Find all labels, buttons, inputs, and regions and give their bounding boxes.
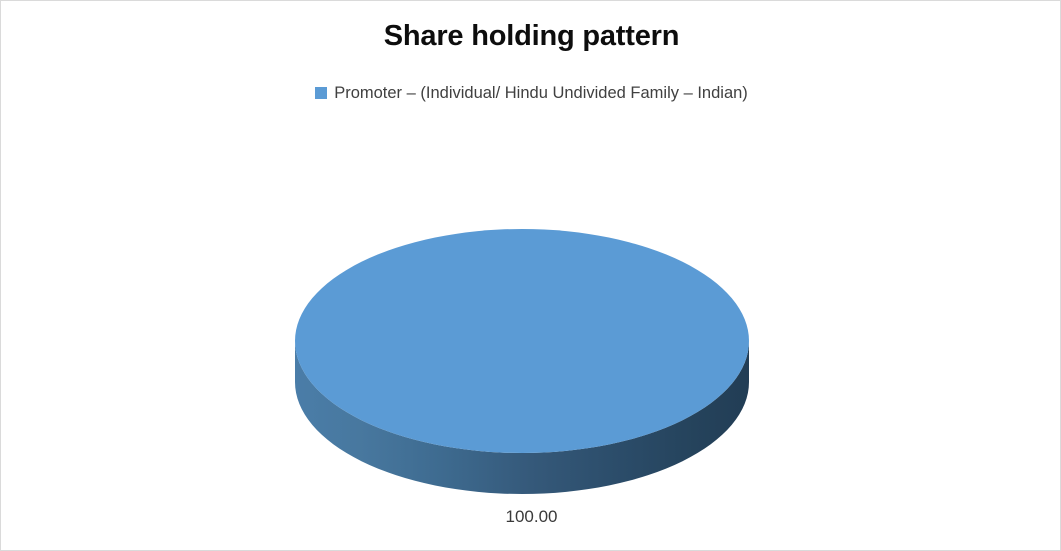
pie-chart-3d	[287, 215, 777, 507]
chart-container: Share holding pattern Promoter – (Indivi…	[0, 0, 1061, 551]
pie-slice-promoter[interactable]	[295, 229, 749, 453]
plot-area	[1, 1, 1061, 551]
pie-data-label: 100.00	[1, 507, 1061, 527]
